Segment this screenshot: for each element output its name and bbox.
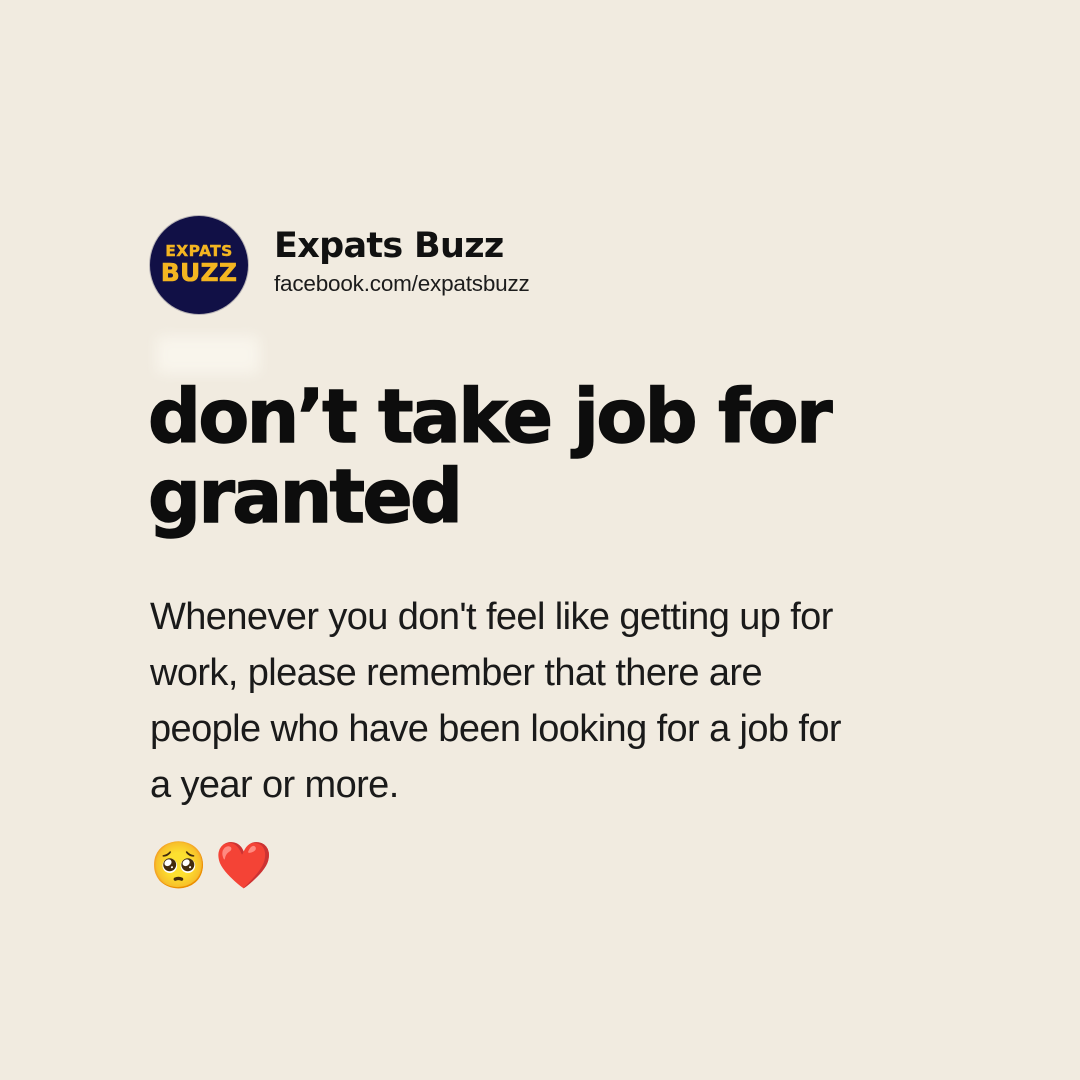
logo-line-buzz: BUZZ	[161, 260, 237, 286]
brand-name: Expats Buzz	[274, 228, 530, 266]
brand-header: EXPATS BUZZ Expats Buzz facebook.com/exp…	[150, 216, 530, 314]
background-artifact	[156, 336, 260, 374]
expats-buzz-logo-icon: EXPATS BUZZ	[150, 216, 248, 314]
brand-text-block: Expats Buzz facebook.com/expatsbuzz	[274, 228, 530, 302]
brand-url[interactable]: facebook.com/expatsbuzz	[274, 270, 530, 298]
logo-line-expats: EXPATS	[165, 244, 232, 260]
emoji-row: 🥺 ❤️	[150, 842, 275, 888]
post-headline: don’t take job for granted	[148, 378, 848, 538]
social-post-canvas: EXPATS BUZZ Expats Buzz facebook.com/exp…	[0, 0, 1080, 1080]
red-heart-emoji: ❤️	[215, 842, 274, 888]
post-body-text: Whenever you don't feel like getting up …	[150, 590, 850, 813]
pleading-face-emoji: 🥺	[150, 842, 209, 888]
